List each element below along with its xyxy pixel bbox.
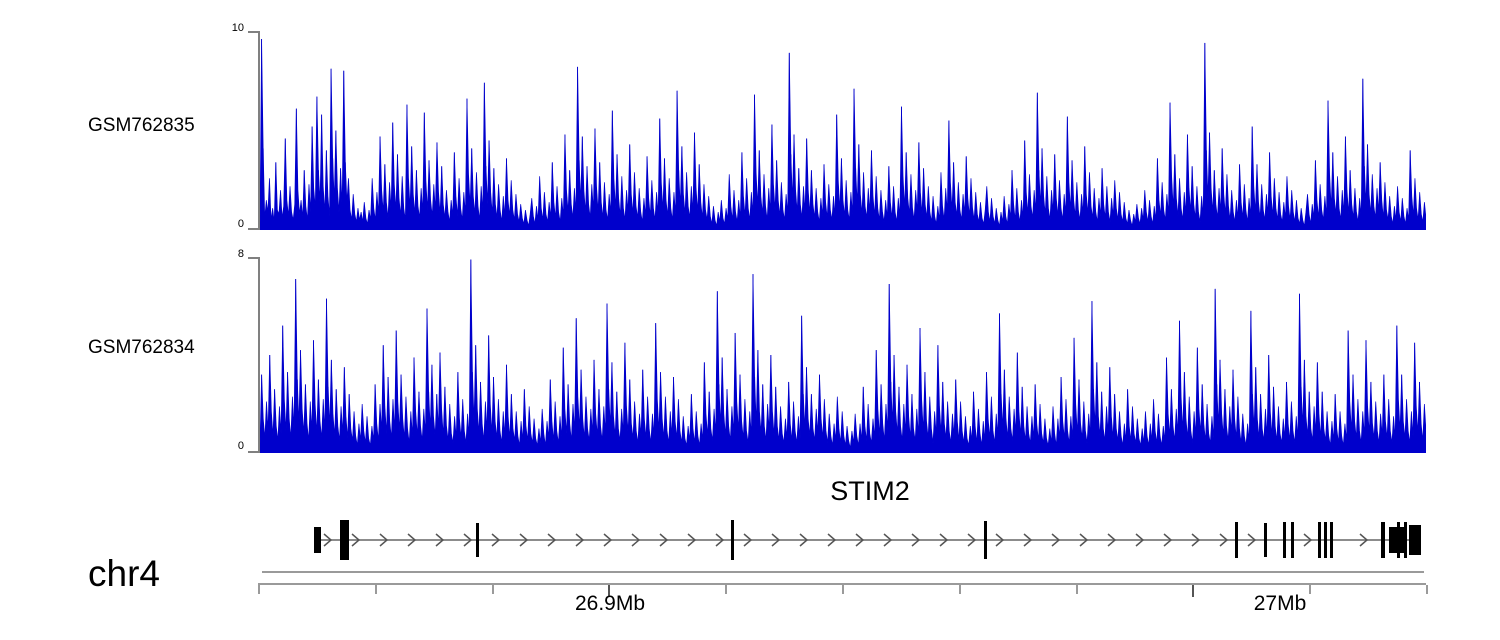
ruler-label-0: 26.9Mb — [520, 592, 700, 616]
ruler-tick — [842, 585, 844, 594]
ruler-tick — [375, 585, 377, 594]
gene-model-svg[interactable] — [260, 515, 1426, 565]
ruler-tick — [959, 585, 961, 594]
track2-tick-max — [248, 257, 258, 259]
ruler-tick — [258, 585, 260, 594]
track2-axis-min-label: 0 — [218, 440, 244, 452]
gene-name-label: STIM2 — [760, 476, 980, 507]
track-separator-line — [262, 571, 1424, 573]
track2-tick-min — [248, 451, 258, 453]
ruler-label-1: 27Mb — [1190, 592, 1370, 616]
ruler-tick — [725, 585, 727, 594]
chromosome-label: chr4 — [88, 553, 160, 595]
gene-model-track[interactable] — [260, 515, 1426, 565]
coverage-track-gsm762834: GSM762834 8 0 — [0, 0, 1500, 470]
genome-browser: GSM762835 10 0 GSM762834 8 0 STIM2 chr4 … — [0, 0, 1500, 640]
track2-plot-area — [260, 257, 1426, 453]
ruler-tick — [1076, 585, 1078, 594]
ruler-tick — [1426, 585, 1428, 594]
track-label-gsm762834: GSM762834 — [88, 337, 195, 359]
ruler-tick — [492, 585, 494, 594]
track2-axis-max-label: 8 — [218, 248, 244, 260]
track2-signal — [260, 257, 1426, 453]
